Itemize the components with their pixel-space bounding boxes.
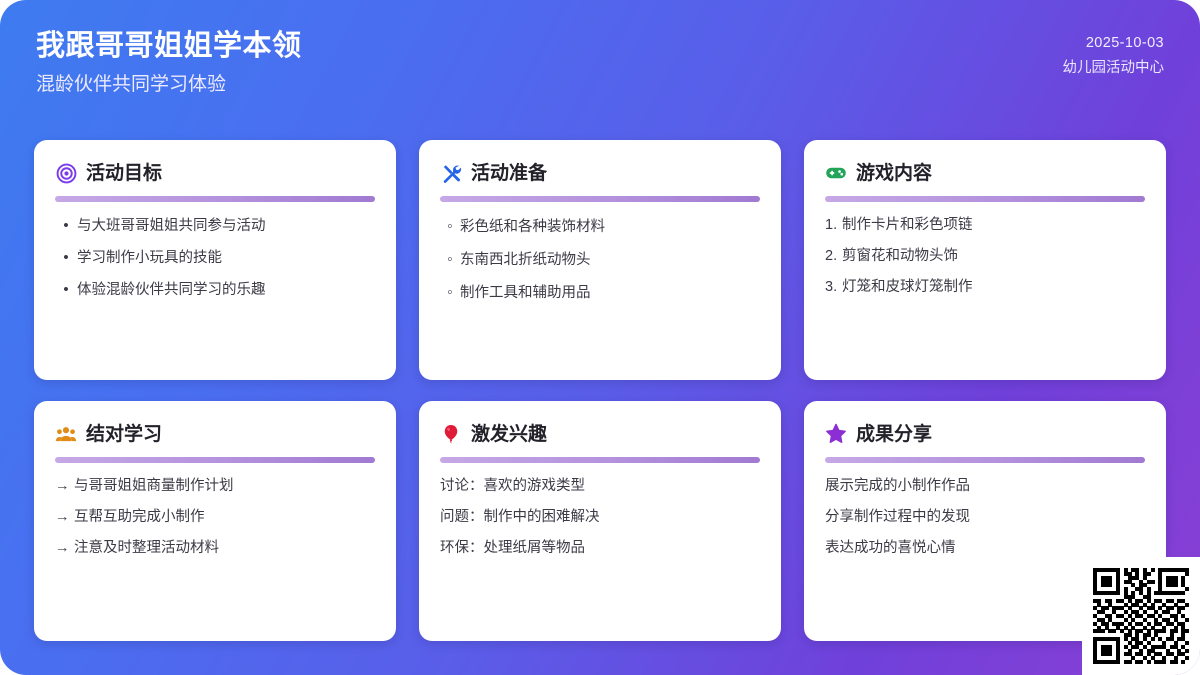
list-item-marker: → (55, 538, 74, 559)
header-left-group: 我跟哥哥姐姐学本领 混龄伙伴共同学习体验 (36, 28, 302, 98)
card-header: 激发兴趣 (440, 420, 760, 448)
list-item: 表达成功的喜悦心情 (825, 538, 1145, 559)
card-header: 成果分享 (825, 420, 1145, 448)
list-item: •学习制作小玩具的技能 (55, 247, 375, 269)
card-item-list: →与哥哥姐姐商量制作计划→互帮互助完成小制作→注意及时整理活动材料 (55, 476, 375, 559)
list-item: 1.制作卡片和彩色项链 (825, 215, 1145, 236)
people-group-icon (55, 423, 77, 445)
card-activity-goals[interactable]: 活动目标•与大班哥哥姐姐共同参与活动•学习制作小玩具的技能•体验混龄伙伴共同学习… (34, 140, 396, 380)
card-title: 成果分享 (856, 425, 932, 444)
list-item-text: 问题：制作中的困难解决 (440, 507, 760, 528)
meta-date: 2025-10-03 (1063, 33, 1165, 55)
qr-code-panel (1082, 557, 1200, 675)
card-title: 结对学习 (86, 425, 162, 444)
card-activity-preparation[interactable]: 活动准备◦彩色纸和各种装饰材料◦东南西北折纸动物头◦制作工具和辅助用品 (419, 140, 781, 380)
list-item: •与大班哥哥姐姐共同参与活动 (55, 215, 375, 237)
list-item-text: 展示完成的小制作作品 (825, 476, 1145, 497)
list-item: 3.灯笼和皮球灯笼制作 (825, 277, 1145, 298)
card-header: 结对学习 (55, 420, 375, 448)
card-header: 游戏内容 (825, 159, 1145, 187)
list-item-text: 分享制作过程中的发现 (825, 507, 1145, 528)
list-item-text: 剪窗花和动物头饰 (842, 246, 1145, 267)
slide-header: 我跟哥哥姐姐学本领 混龄伙伴共同学习体验 2025-10-03 幼儿园活动中心 (0, 0, 1200, 128)
card-item-list: 1.制作卡片和彩色项链2.剪窗花和动物头饰3.灯笼和皮球灯笼制作 (825, 215, 1145, 298)
list-item-marker: → (55, 507, 74, 528)
list-item-text: 体验混龄伙伴共同学习的乐趣 (77, 280, 375, 301)
list-item: 环保：处理纸屑等物品 (440, 538, 760, 559)
list-item-text: 与大班哥哥姐姐共同参与活动 (77, 216, 375, 237)
list-item-marker: ◦ (440, 215, 460, 238)
list-item: ◦彩色纸和各种装饰材料 (440, 215, 760, 238)
list-item-text: 灯笼和皮球灯笼制作 (842, 277, 1145, 298)
card-underline (825, 457, 1145, 463)
card-title: 游戏内容 (856, 164, 932, 183)
list-item-marker: → (55, 476, 74, 497)
list-item-marker: 2. (825, 246, 842, 267)
list-item-text: 制作卡片和彩色项链 (842, 215, 1145, 236)
list-item-marker: ◦ (440, 248, 460, 271)
list-item-marker: 3. (825, 277, 842, 298)
card-spark-interest[interactable]: 激发兴趣讨论：喜欢的游戏类型问题：制作中的困难解决环保：处理纸屑等物品 (419, 401, 781, 641)
tools-icon (440, 162, 462, 184)
list-item-marker: • (55, 279, 77, 301)
list-item-marker: • (55, 247, 77, 269)
card-title: 活动目标 (86, 164, 162, 183)
list-item-text: 互帮互助完成小制作 (74, 507, 375, 528)
slide-root: 我跟哥哥姐姐学本领 混龄伙伴共同学习体验 2025-10-03 幼儿园活动中心 … (0, 0, 1200, 675)
card-item-list: 讨论：喜欢的游戏类型问题：制作中的困难解决环保：处理纸屑等物品 (440, 476, 760, 559)
balloon-icon (440, 423, 462, 445)
gamepad-icon (825, 162, 847, 184)
target-icon (55, 162, 77, 184)
card-title: 激发兴趣 (471, 425, 547, 444)
card-underline (55, 196, 375, 202)
list-item: →注意及时整理活动材料 (55, 538, 375, 559)
card-underline (440, 196, 760, 202)
qr-code (1093, 568, 1189, 664)
list-item: ◦制作工具和辅助用品 (440, 281, 760, 304)
card-grid: 活动目标•与大班哥哥姐姐共同参与活动•学习制作小玩具的技能•体验混龄伙伴共同学习… (34, 140, 1166, 641)
list-item-marker: ◦ (440, 281, 460, 304)
list-item: 展示完成的小制作作品 (825, 476, 1145, 497)
page-title: 我跟哥哥姐姐学本领 (36, 28, 302, 64)
list-item-text: 与哥哥姐姐商量制作计划 (74, 476, 375, 497)
card-header: 活动目标 (55, 159, 375, 187)
list-item: 问题：制作中的困难解决 (440, 507, 760, 528)
list-item-marker: • (55, 215, 77, 237)
card-underline (55, 457, 375, 463)
list-item: 分享制作过程中的发现 (825, 507, 1145, 528)
star-icon (825, 423, 847, 445)
list-item: •体验混龄伙伴共同学习的乐趣 (55, 279, 375, 301)
card-underline (440, 457, 760, 463)
list-item-text: 讨论：喜欢的游戏类型 (440, 476, 760, 497)
card-title: 活动准备 (471, 164, 547, 183)
card-underline (825, 196, 1145, 202)
list-item: →与哥哥姐姐商量制作计划 (55, 476, 375, 497)
list-item: →互帮互助完成小制作 (55, 507, 375, 528)
header-meta-group: 2025-10-03 幼儿园活动中心 (1063, 33, 1165, 80)
meta-location: 幼儿园活动中心 (1063, 58, 1165, 80)
card-item-list: •与大班哥哥姐姐共同参与活动•学习制作小玩具的技能•体验混龄伙伴共同学习的乐趣 (55, 215, 375, 301)
list-item-text: 彩色纸和各种装饰材料 (460, 217, 760, 238)
card-item-list: 展示完成的小制作作品分享制作过程中的发现表达成功的喜悦心情 (825, 476, 1145, 559)
list-item: 讨论：喜欢的游戏类型 (440, 476, 760, 497)
list-item-text: 东南西北折纸动物头 (460, 250, 760, 271)
list-item-text: 学习制作小玩具的技能 (77, 248, 375, 269)
card-header: 活动准备 (440, 159, 760, 187)
list-item-marker: 1. (825, 215, 842, 236)
page-subtitle: 混龄伙伴共同学习体验 (36, 73, 302, 98)
list-item-text: 表达成功的喜悦心情 (825, 538, 1145, 559)
list-item-text: 注意及时整理活动材料 (74, 538, 375, 559)
card-game-content[interactable]: 游戏内容1.制作卡片和彩色项链2.剪窗花和动物头饰3.灯笼和皮球灯笼制作 (804, 140, 1166, 380)
list-item: 2.剪窗花和动物头饰 (825, 246, 1145, 267)
card-item-list: ◦彩色纸和各种装饰材料◦东南西北折纸动物头◦制作工具和辅助用品 (440, 215, 760, 305)
list-item-text: 环保：处理纸屑等物品 (440, 538, 760, 559)
card-pair-learning[interactable]: 结对学习→与哥哥姐姐商量制作计划→互帮互助完成小制作→注意及时整理活动材料 (34, 401, 396, 641)
list-item: ◦东南西北折纸动物头 (440, 248, 760, 271)
list-item-text: 制作工具和辅助用品 (460, 283, 760, 304)
